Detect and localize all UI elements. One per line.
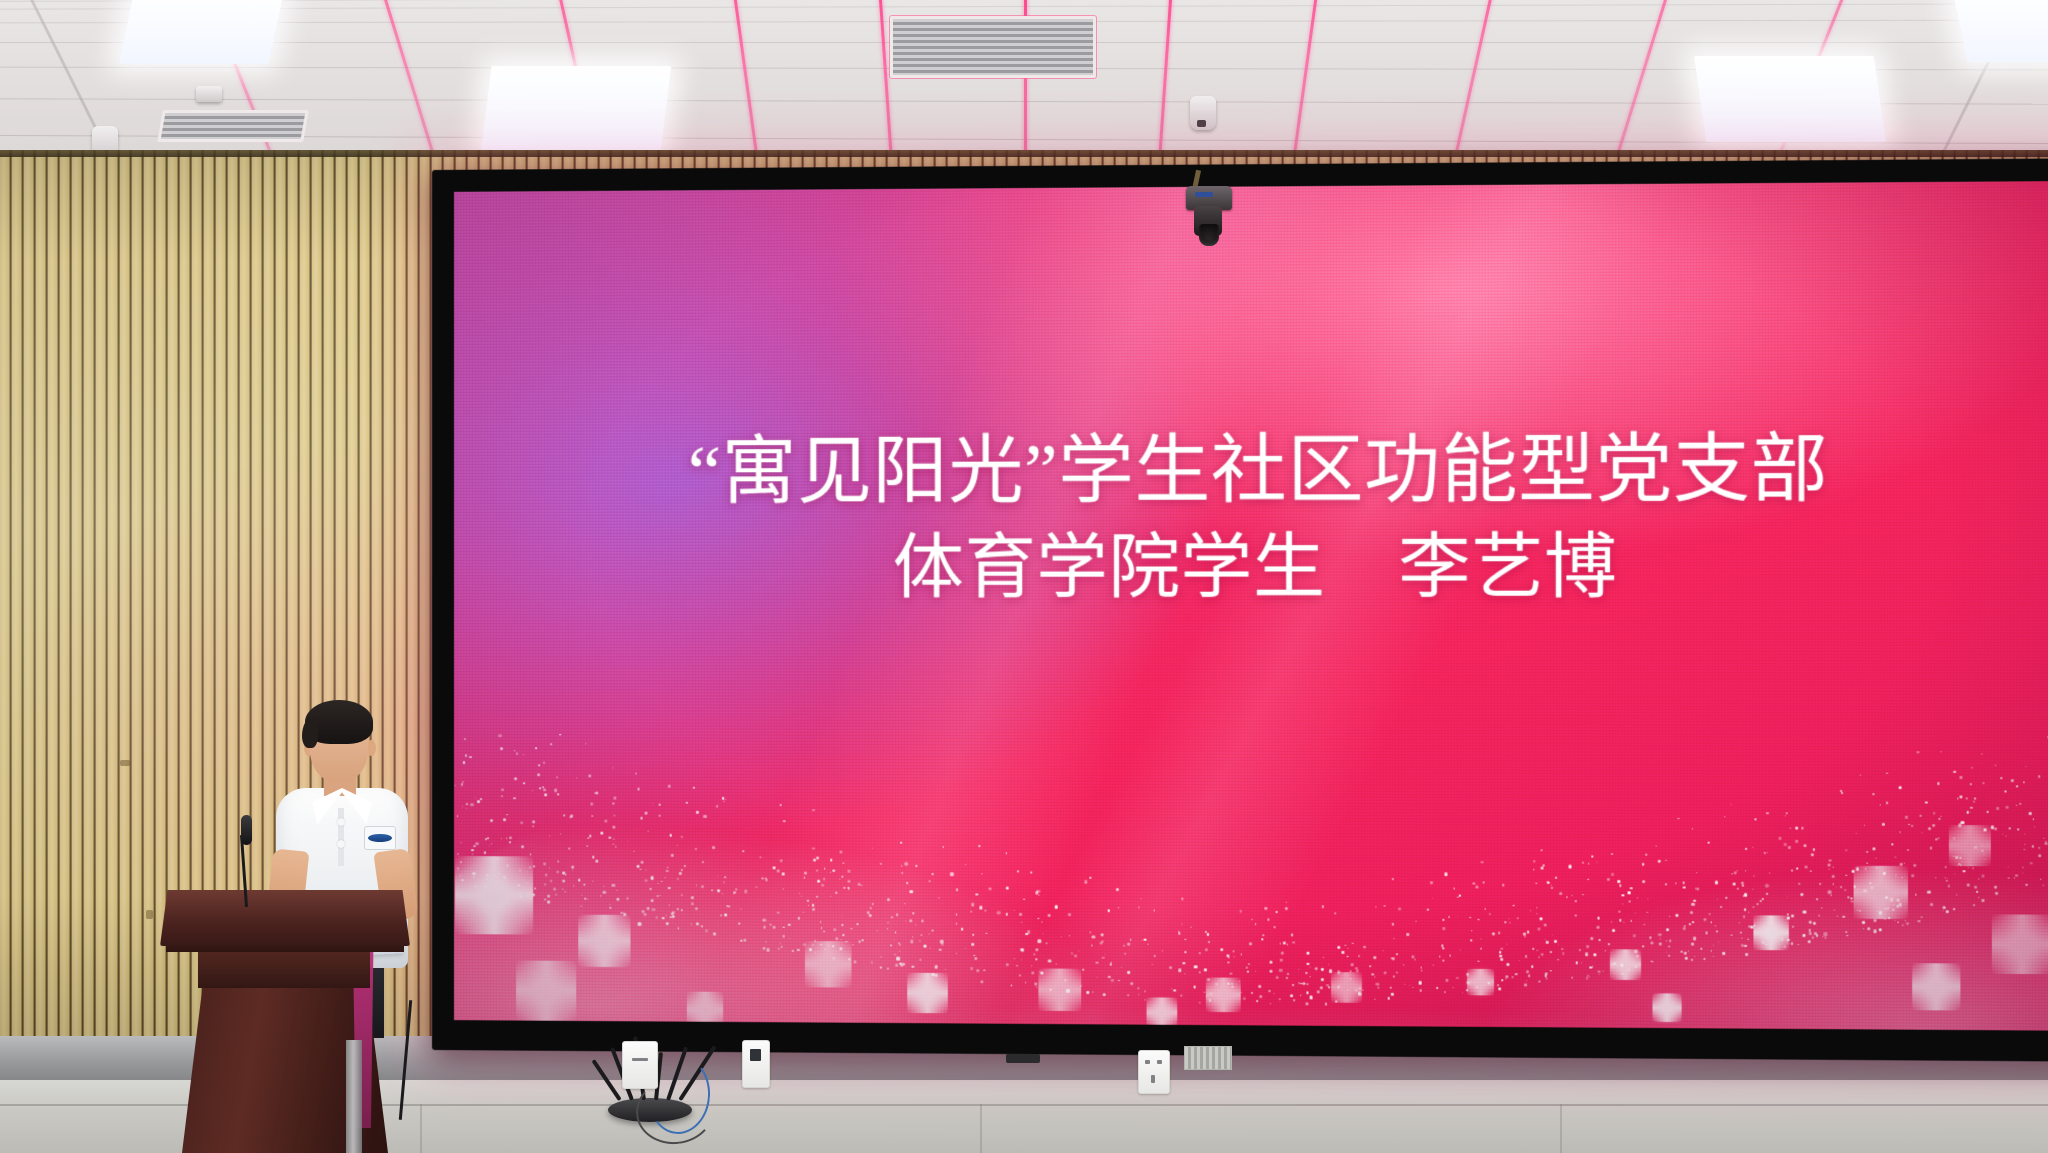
led-video-wall[interactable]: “寓见阳光”学生社区功能型党支部 体育学院学生 李艺博 (432, 158, 2048, 1061)
outlet-slot (632, 1058, 648, 1061)
ceiling-light-panel (1953, 0, 2048, 62)
ptz-camera[interactable] (1186, 186, 1232, 252)
floor-seam (1560, 1104, 1562, 1153)
floor-vent-grille (1184, 1046, 1232, 1070)
outlet-slot (1157, 1060, 1162, 1064)
presenter-ear (367, 740, 376, 756)
podium-steel-edge (346, 1040, 362, 1153)
outlet-slot (1145, 1060, 1150, 1064)
microphone-stem (240, 835, 248, 907)
screenshot-root: “寓见阳光”学生社区功能型党支部 体育学院学生 李艺博 (0, 0, 2048, 1153)
ceiling-light-panel (119, 0, 284, 64)
floor-microphone-stand (402, 1000, 408, 1120)
screen-vignette (454, 181, 2048, 1031)
presenter-button (337, 818, 345, 826)
wall-plate-network-outlet[interactable] (742, 1040, 770, 1088)
screen-brand-strip (1006, 1054, 1040, 1063)
presenter-placket (338, 808, 344, 866)
wall-mark (146, 910, 153, 919)
floor-seam (420, 1104, 422, 1153)
podium-desktop (160, 890, 410, 946)
ceiling-light-panel (481, 66, 672, 154)
floor-seam (980, 1104, 982, 1153)
wall-plate-power-outlet[interactable] (1138, 1050, 1170, 1094)
smoke-detector (1190, 96, 1216, 130)
podium-column (198, 952, 370, 988)
ceiling-air-vent (890, 16, 1096, 78)
ceiling-light-panel (1694, 56, 1886, 142)
wall-mark (120, 760, 130, 766)
podium-microphone (241, 815, 251, 905)
outlet-slot (1151, 1075, 1155, 1083)
microphone-head-icon (241, 815, 252, 845)
podium (160, 890, 410, 1153)
presenter-hair (305, 700, 373, 744)
camera-indicator-icon (1195, 192, 1213, 197)
ceiling-air-vent (157, 110, 309, 142)
smoke-detector (196, 86, 222, 102)
outlet-port (750, 1049, 761, 1061)
presenter-shirt-logo (364, 826, 396, 850)
presenter-button (337, 840, 345, 848)
screen-surface: “寓见阳光”学生社区功能型党支部 体育学院学生 李艺博 (454, 181, 2048, 1031)
camera-lens-icon (1199, 224, 1219, 246)
